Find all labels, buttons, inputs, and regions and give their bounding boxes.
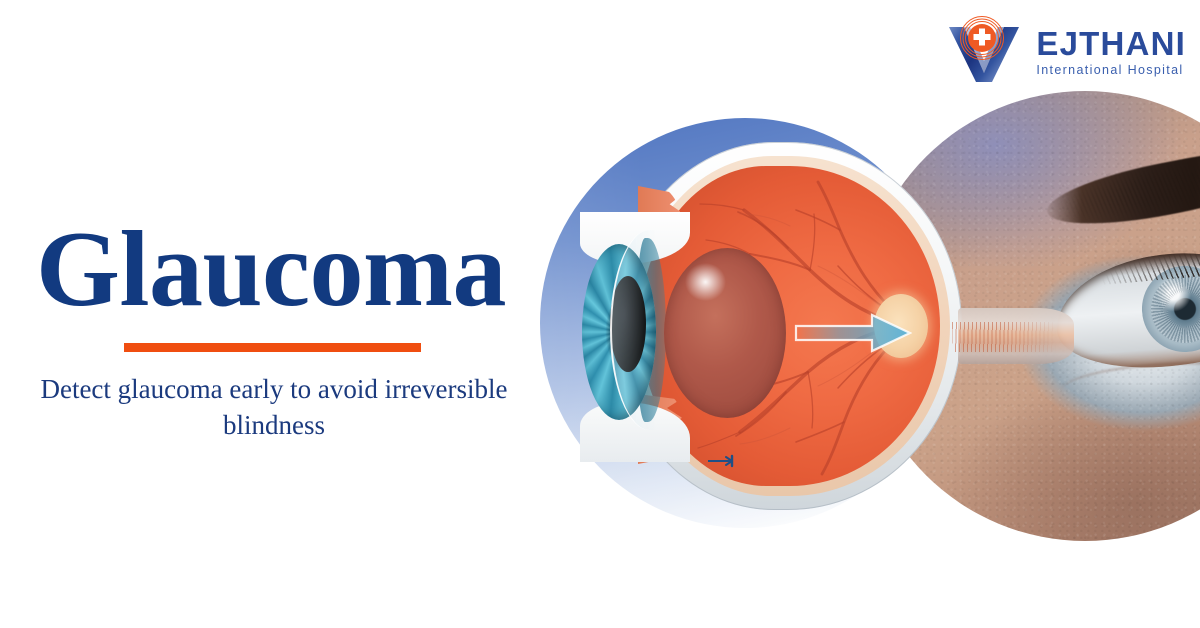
hospital-logo[interactable]: EJTHANI International Hospital bbox=[941, 18, 1186, 84]
intraocular-pressure-arrow-icon bbox=[794, 312, 912, 354]
eye-cross-section bbox=[580, 126, 980, 526]
optic-nerve-fibers bbox=[952, 322, 1056, 352]
v-chevron-logo-mark bbox=[941, 18, 1027, 84]
glaucoma-eye-anatomy-illustration bbox=[520, 96, 1200, 556]
logo-name: EJTHANI bbox=[1036, 27, 1186, 60]
logo-text-block: EJTHANI International Hospital bbox=[1036, 27, 1186, 77]
subtitle-text: Detect glaucoma early to avoid irreversi… bbox=[16, 372, 532, 444]
aqueous-drainage-arrow-icon bbox=[708, 454, 742, 468]
lens bbox=[664, 248, 786, 418]
medical-cross-badge-icon bbox=[959, 15, 1005, 61]
logo-tagline: International Hospital bbox=[1036, 64, 1186, 77]
page-title: Glaucoma bbox=[36, 216, 506, 324]
glaucoma-banner: EJTHANI International Hospital Glaucoma … bbox=[0, 0, 1200, 628]
accent-rule-divider bbox=[124, 343, 421, 352]
